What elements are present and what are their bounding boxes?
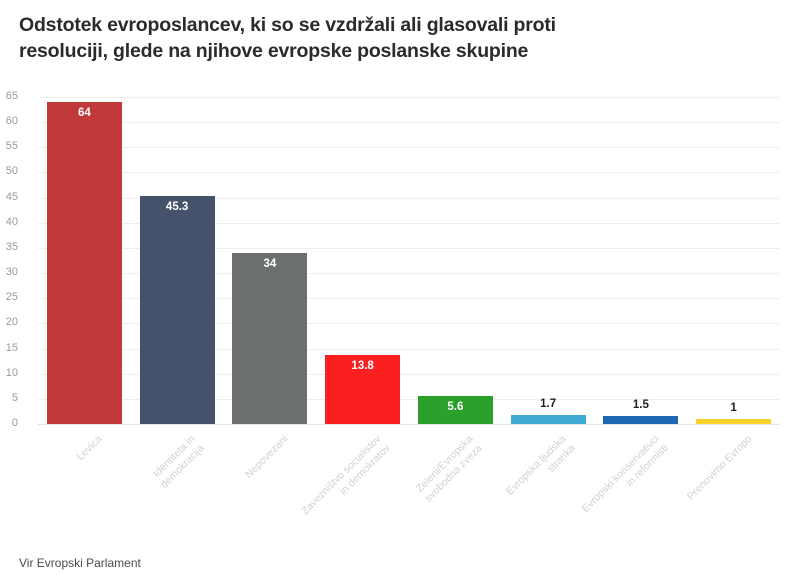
bar-value-label: 5.6 [418, 401, 493, 413]
bar-value-label: 1 [696, 402, 771, 414]
chart-title-block: Odstotek evroposlancev, ki so se vzdržal… [19, 12, 709, 64]
bar-value-label: 45.3 [140, 201, 215, 213]
y-axis-tick-label: 5 [0, 392, 18, 404]
y-axis-tick-label: 65 [0, 90, 18, 102]
bar[interactable]: 34 [232, 253, 307, 424]
y-axis-tick-label: 10 [0, 367, 18, 379]
y-axis-tick-label: 50 [0, 165, 18, 177]
bar[interactable]: 1.5 [603, 416, 678, 424]
x-axis-labels: LevicaIdentiteta in demokracijaNepovezan… [38, 433, 780, 553]
bars-layer: 6445.33413.85.61.71.51 [38, 97, 780, 424]
y-axis-tick-label: 0 [0, 417, 18, 429]
plot-area: 05101520253035404550556065 6445.33413.85… [38, 97, 780, 424]
bar-value-label: 64 [47, 107, 122, 119]
y-axis-tick-label: 45 [0, 191, 18, 203]
chart-title-line-1: Odstotek evroposlancev, ki so se vzdržal… [19, 12, 709, 38]
y-axis-tick-label: 35 [0, 241, 18, 253]
bar[interactable]: 45.3 [140, 196, 215, 424]
bar-value-label: 1.5 [603, 399, 678, 411]
footer-divider [0, 540, 796, 541]
source-note: Vir Evropski Parlament [19, 556, 141, 570]
y-axis-tick-label: 60 [0, 115, 18, 127]
y-axis-tick-label: 25 [0, 291, 18, 303]
y-axis-tick-label: 15 [0, 342, 18, 354]
bar[interactable]: 5.6 [418, 396, 493, 424]
chart-title-line-2: resoluciji, glede na njihove evropske po… [19, 38, 709, 64]
y-axis-tick-label: 20 [0, 316, 18, 328]
bar[interactable]: 1.7 [511, 415, 586, 424]
bar-value-label: 1.7 [511, 398, 586, 410]
gridline [38, 424, 780, 425]
y-axis-tick-label: 30 [0, 266, 18, 278]
bar-value-label: 13.8 [325, 360, 400, 372]
page-title: Odstotek evroposlancev, ki so se vzdržal… [19, 12, 709, 64]
y-axis-tick-label: 40 [0, 216, 18, 228]
bar-value-label: 34 [232, 258, 307, 270]
bar[interactable]: 13.8 [325, 355, 400, 424]
bar[interactable]: 1 [696, 419, 771, 424]
y-axis-tick-label: 55 [0, 140, 18, 152]
plot-wrapper: 05101520253035404550556065 6445.33413.85… [0, 88, 796, 438]
chart-page: Odstotek evroposlancev, ki so se vzdržal… [0, 0, 796, 575]
bar[interactable]: 64 [47, 102, 122, 424]
